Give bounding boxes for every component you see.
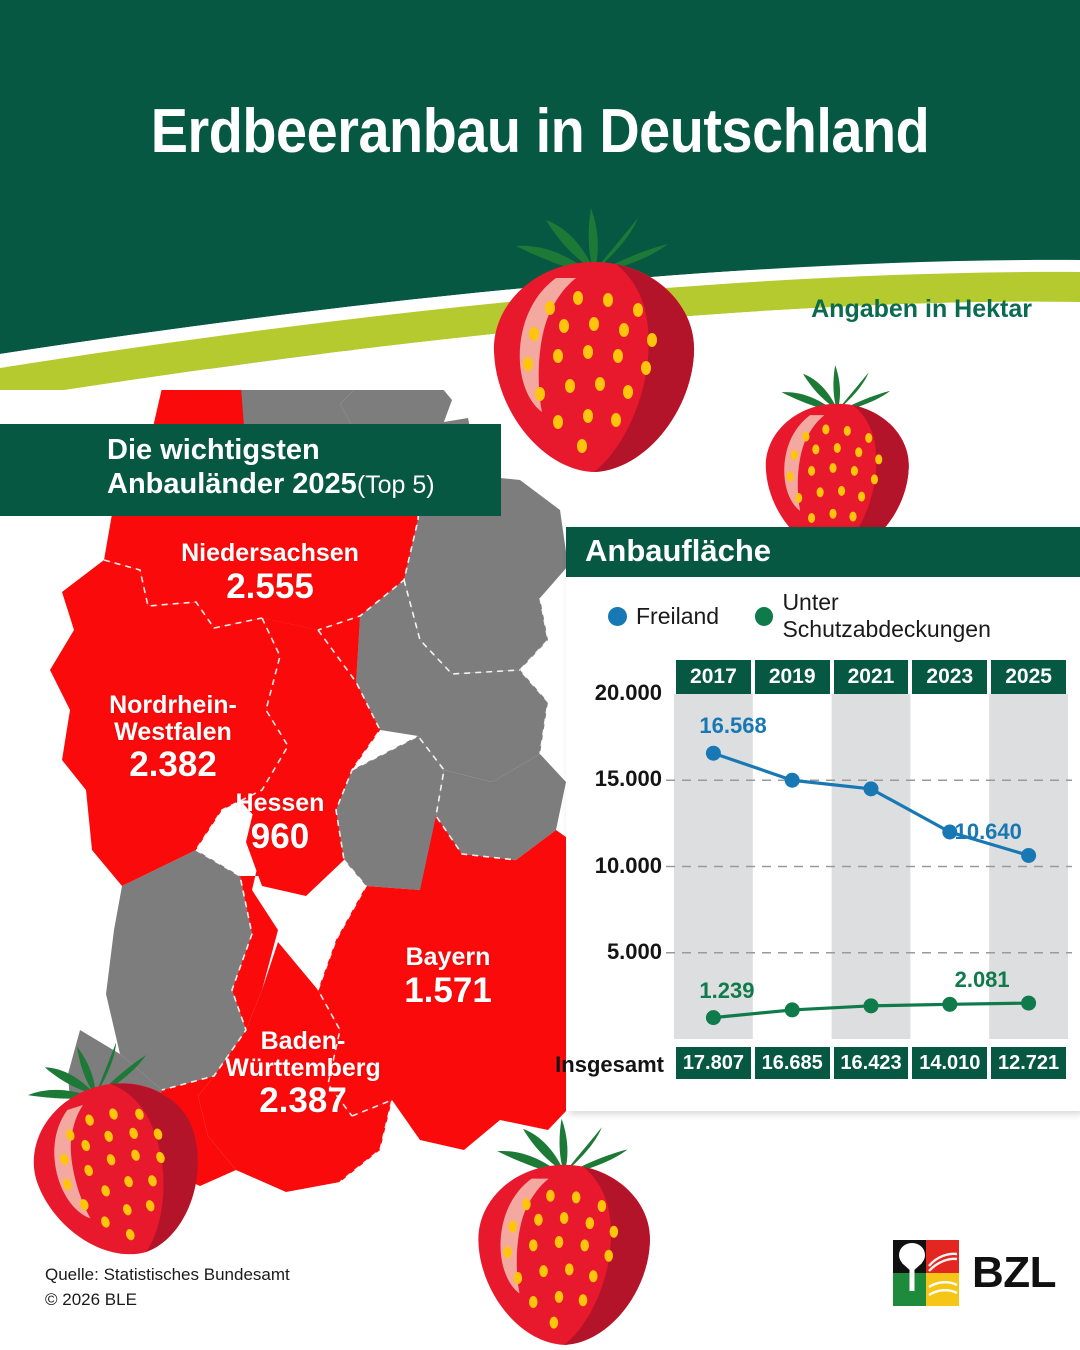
units-note: Angaben in Hektar: [811, 295, 1032, 324]
map-label-nordrhein-westfalen: Nordrhein- Westfalen 2.382: [48, 692, 298, 783]
bzl-logo-text: BZL: [972, 1248, 1056, 1298]
chart-data-point: [1021, 996, 1036, 1011]
chart-totals-label: Insgesamt: [555, 1052, 664, 1078]
chart-data-point: [706, 1010, 721, 1025]
chart-y-tick-label: 5.000: [607, 939, 662, 965]
chart-card: Anbaufläche Freiland Unter Schutzabdecku…: [566, 527, 1080, 1111]
map-label-hessen: Hessen 960: [180, 790, 380, 855]
region-name-line2: Württemberg: [178, 1055, 428, 1082]
chart-point-label: 1.239: [699, 978, 754, 1004]
chart-year-header-cell: 2025: [991, 660, 1066, 694]
chart-total-cell: 16.685: [755, 1047, 830, 1079]
infographic-root: Erdbeeranbau in Deutschland Angaben in H…: [0, 0, 1080, 1350]
map-label-baden-wuerttemberg: Baden- Württemberg 2.387: [178, 1028, 428, 1119]
bzl-logo-mark: [893, 1240, 959, 1306]
ble-watermark: © BLE: [412, 1150, 473, 1174]
chart-total-cell: 14.010: [912, 1047, 987, 1079]
chart-point-label: 10.640: [955, 819, 1022, 845]
strawberry-illustration-top: [488, 198, 702, 478]
region-name-line2: Westfalen: [48, 719, 298, 746]
chart-data-point: [785, 1002, 800, 1017]
bzl-logo: BZL: [893, 1240, 1056, 1306]
map-panel-title-line2: Anbauländer 2025: [107, 468, 357, 500]
chart-data-point: [706, 746, 721, 761]
chart-point-label: 16.568: [699, 713, 766, 739]
region-name-line1: Baden-: [178, 1028, 428, 1055]
chart-data-point: [942, 997, 957, 1012]
source-line: Quelle: Statistisches Bundesamt: [45, 1263, 290, 1288]
chart-data-point: [785, 773, 800, 788]
chart-y-tick-label: 20.000: [595, 680, 662, 706]
map-panel-title-suffix: (Top 5): [357, 471, 435, 499]
region-value: 2.382: [48, 746, 298, 783]
region-name: Hessen: [180, 790, 380, 817]
chart-y-tick-label: 15.000: [595, 766, 662, 792]
region-value: 1.571: [348, 972, 548, 1009]
chart-data-point: [1021, 848, 1036, 863]
chart-year-header-cell: 2019: [755, 660, 830, 694]
chart-total-cell: 12.721: [991, 1047, 1066, 1079]
chart-data-point: [864, 998, 879, 1013]
map-panel-title-line1: Die wichtigsten: [107, 433, 483, 467]
chart-year-header-cell: 2021: [834, 660, 909, 694]
region-name: Bayern: [348, 944, 548, 971]
chart-y-tick-label: 10.000: [595, 853, 662, 879]
region-value: 960: [180, 818, 380, 855]
chart-data-point: [864, 781, 879, 796]
chart-year-header-cell: 2023: [912, 660, 987, 694]
map-panel-title: Die wichtigsten Anbauländer 2025(Top 5): [0, 424, 501, 516]
chart-plot-area: 20.00015.00010.0005.00020172019202120232…: [566, 527, 1080, 1111]
footer-source-block: Quelle: Statistisches Bundesamt © 2026 B…: [45, 1263, 290, 1312]
copyright-line: © 2026 BLE: [45, 1288, 290, 1313]
chart-total-cell: 16.423: [834, 1047, 909, 1079]
region-value: 2.387: [178, 1082, 428, 1119]
region-value: 2.555: [110, 568, 430, 605]
chart-point-label: 2.081: [955, 967, 1010, 993]
strawberry-illustration-bottom-center: [470, 1110, 660, 1350]
chart-total-cell: 17.807: [676, 1047, 751, 1079]
region-name-line1: Nordrhein-: [48, 692, 298, 719]
chart-year-header-cell: 2017: [676, 660, 751, 694]
region-name: Niedersachsen: [110, 540, 430, 567]
map-label-niedersachsen: Niedersachsen 2.555: [110, 540, 430, 605]
page-title: Erdbeeranbau in Deutschland: [54, 96, 1026, 167]
map-label-bayern: Bayern 1.571: [348, 944, 548, 1009]
